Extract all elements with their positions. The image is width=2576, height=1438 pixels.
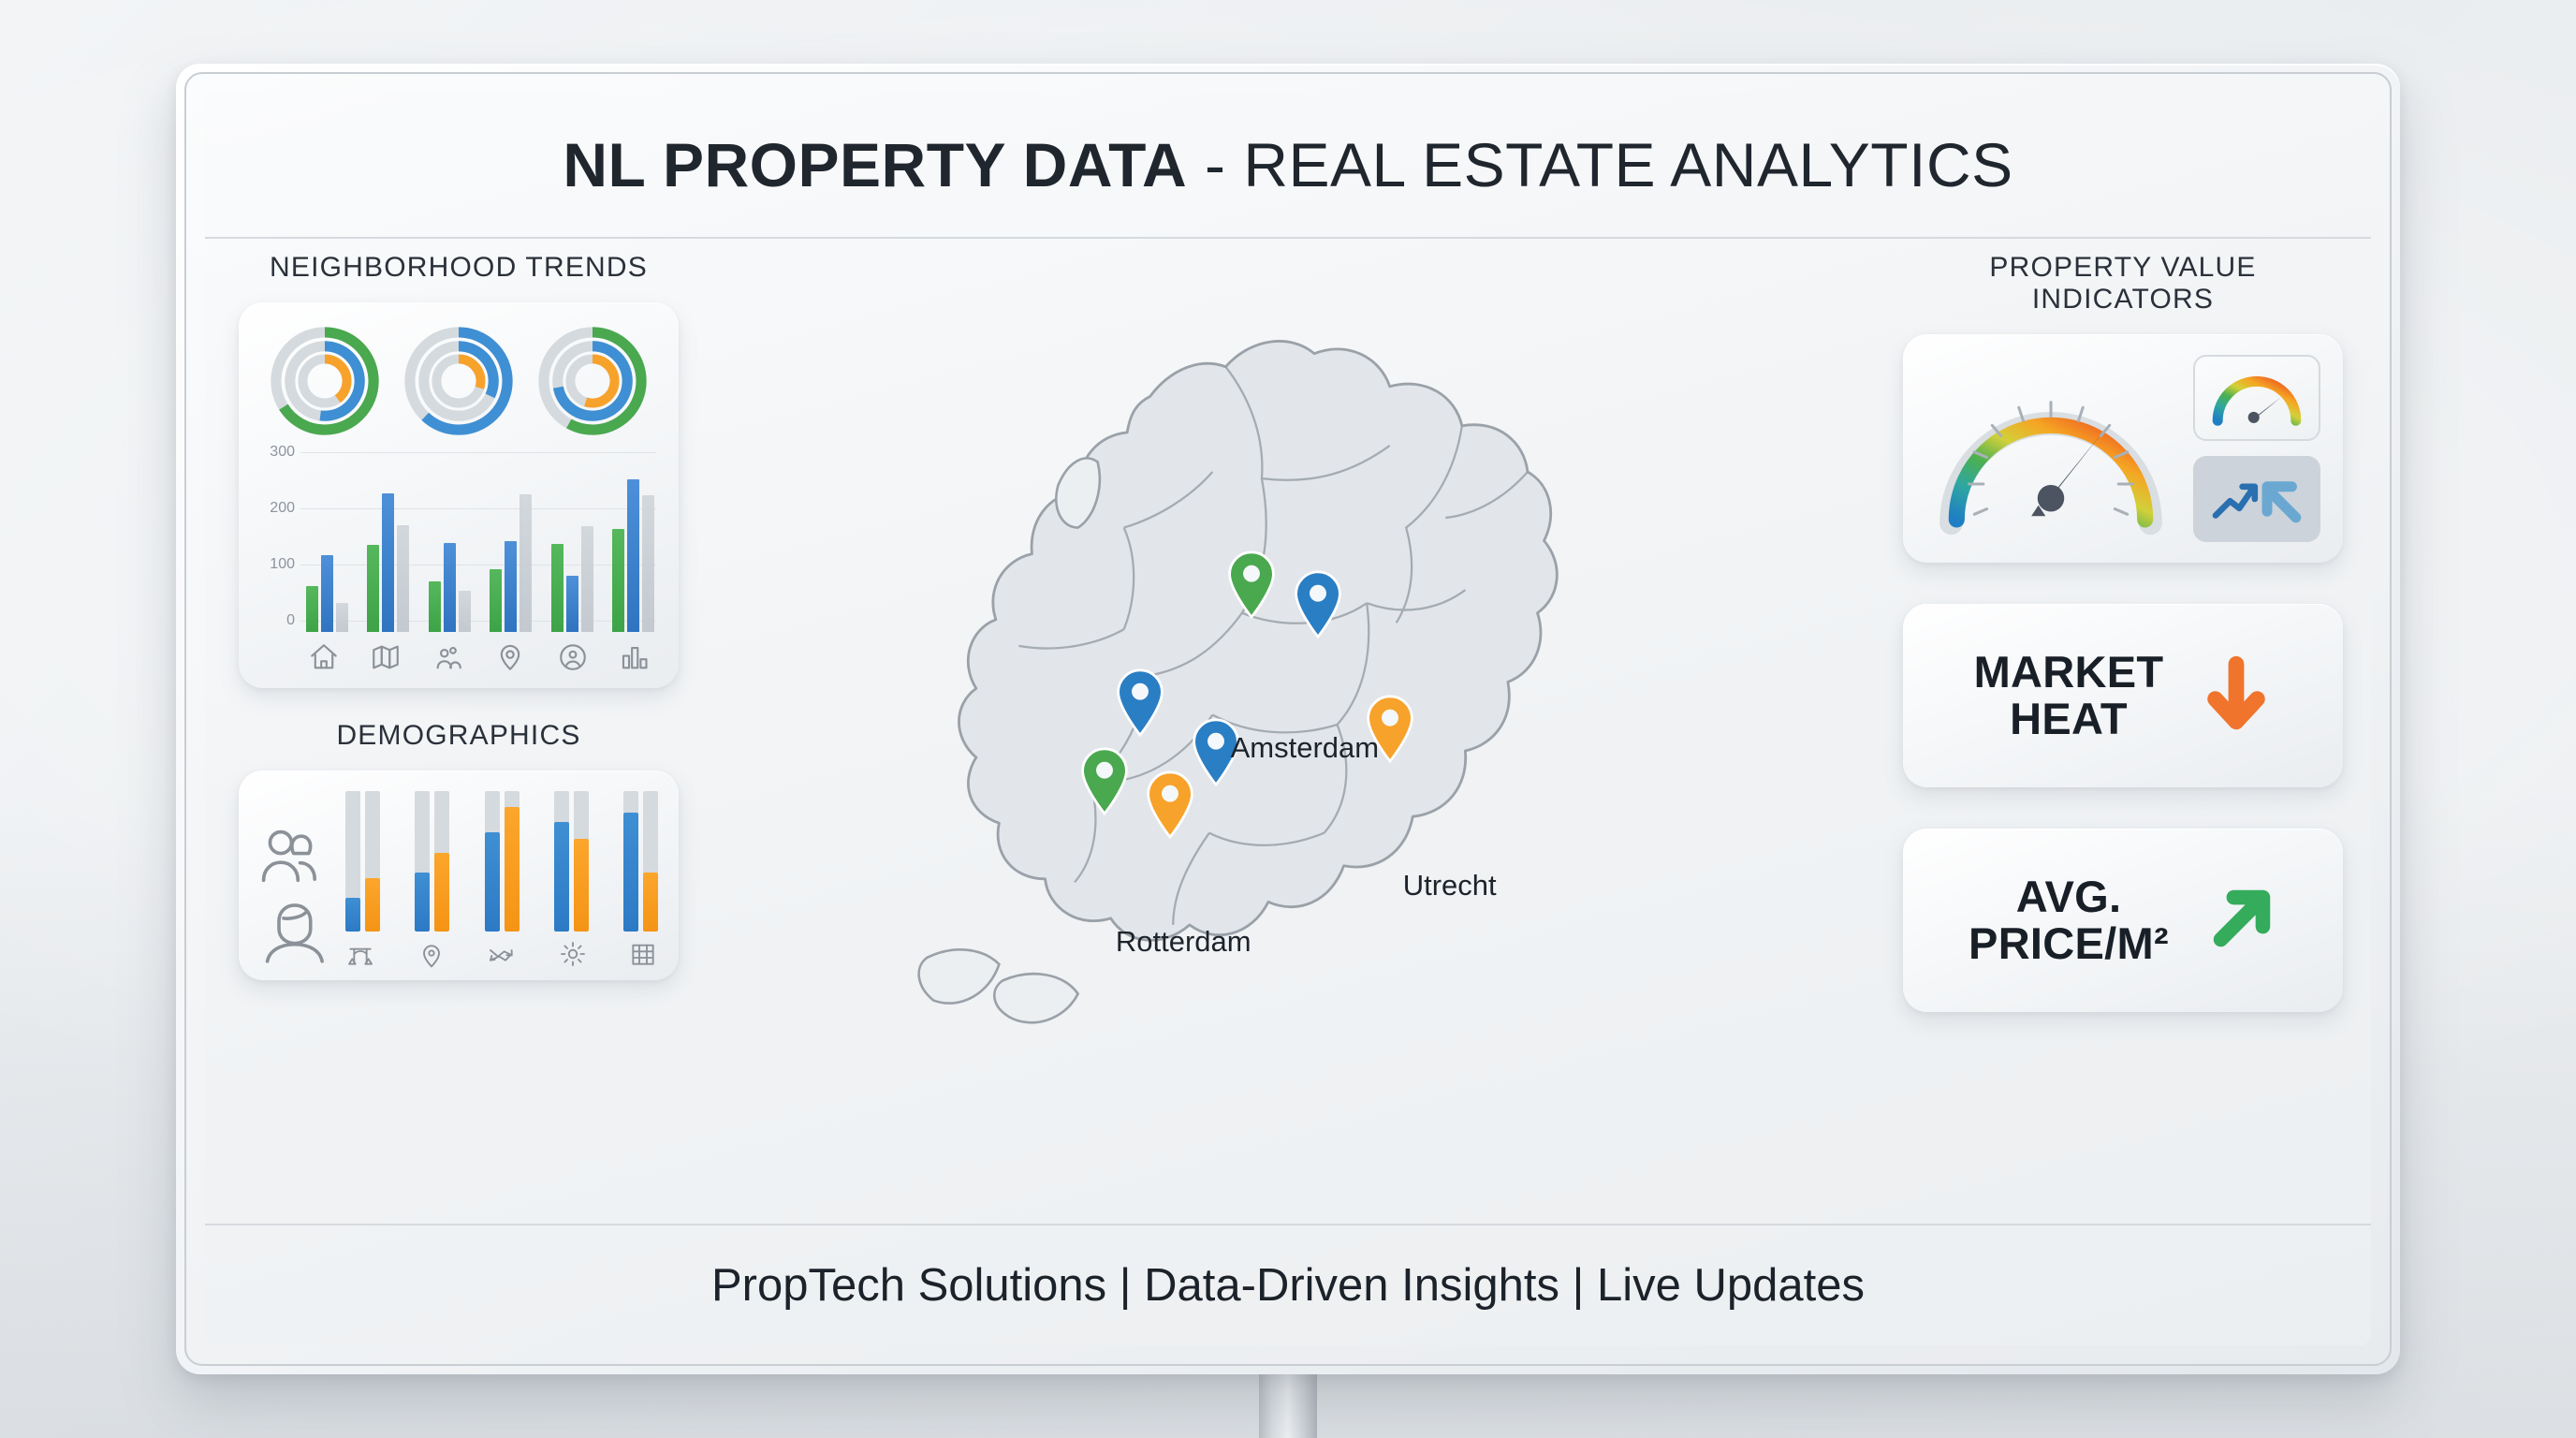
page-title-bold: NL PROPERTY DATA [563, 130, 1187, 199]
bar-blue [566, 576, 578, 632]
bar-gray [642, 495, 654, 632]
two-people-icon [259, 823, 332, 890]
bar-gray [459, 591, 471, 632]
avg-price-card[interactable]: AVG. PRICE/M² [1903, 829, 2343, 1012]
bar-chart-icon [619, 641, 651, 673]
neighborhood-trends-card[interactable]: 3002001000 [239, 302, 679, 688]
demographics-bar-fill-blue [485, 832, 500, 932]
left-column: NEIGHBORHOOD TRENDS [239, 252, 679, 980]
demographics-bar-track [554, 791, 569, 932]
demographics-bar-fill-blue [554, 822, 569, 932]
avg-price-line1: AVG. [1969, 873, 2169, 920]
market-heat-arrow [2201, 655, 2272, 737]
map-pin-rotterdam[interactable] [1114, 668, 1166, 737]
bar-blue [382, 493, 394, 632]
demographics-bar-pair [485, 791, 520, 932]
donut-chart-2[interactable] [401, 323, 517, 439]
property-value-indicators-title: PROPERTY VALUE INDICATORS [1903, 252, 2343, 315]
donut-chart-1[interactable] [267, 323, 383, 439]
map-pin-rotterdam[interactable] [1144, 770, 1196, 839]
bar-gray [336, 603, 348, 632]
demographics-bar-pair [554, 791, 589, 932]
bar-blue [444, 543, 456, 632]
demographics-bar-track [623, 791, 638, 932]
mini-gauge-tile[interactable] [2193, 355, 2320, 441]
avg-price-line2: PRICE/M² [1969, 920, 2169, 967]
neighborhood-bar-chart[interactable]: 3002001000 [257, 445, 660, 632]
market-heat-label: MARKET HEAT [1974, 649, 2164, 742]
monitor-frame: NL PROPERTY DATA - REAL ESTATE ANALYTICS… [176, 64, 2400, 1374]
demographics-bar-fill-orange [574, 839, 589, 932]
bar-green [551, 544, 563, 632]
value-gauge[interactable] [1925, 359, 2176, 537]
bar-gray [520, 494, 532, 632]
demographics-icon-row [345, 932, 658, 969]
demographics-bar-track [345, 791, 360, 932]
bar-group [490, 452, 532, 632]
demographics-bar-chart[interactable] [345, 791, 658, 969]
demographics-bar-pair [345, 791, 380, 932]
y-axis-tick-label: 300 [257, 444, 295, 461]
demographics-bar-fill-orange [365, 878, 380, 932]
bar-green [429, 581, 441, 632]
bar-chart-icon-row [257, 632, 660, 673]
map-icon [370, 641, 402, 673]
right-column: PROPERTY VALUE INDICATORS [1903, 252, 2343, 1012]
user-circle-icon [557, 641, 589, 673]
dashboard-footer: PropTech Solutions | Data-Driven Insight… [205, 1224, 2371, 1345]
gear-icon [558, 939, 588, 969]
donut-chart-row [257, 323, 660, 439]
bar-blue [321, 555, 333, 632]
demographics-bar-pair [415, 791, 449, 932]
bar-green [612, 529, 624, 632]
demographics-bar-track [415, 791, 430, 932]
map-city-label-utrecht: Utrecht [1403, 869, 1497, 902]
map-city-label-amsterdam: Amsterdam [1231, 731, 1379, 765]
bar-blue [505, 541, 517, 632]
avg-price-label: AVG. PRICE/M² [1969, 873, 2169, 967]
bar-group [429, 452, 471, 632]
location-pin-icon [417, 939, 446, 969]
demographics-bar-track [574, 791, 589, 932]
trend-cross-icon [487, 939, 517, 969]
bar-green [367, 545, 379, 632]
map-city-label-rotterdam: Rotterdam [1116, 925, 1251, 959]
bridge-icon [345, 939, 375, 969]
monitor-stand [1259, 1369, 1317, 1438]
avg-price-arrow [2206, 880, 2277, 961]
bar-group [306, 452, 348, 632]
people-group-icon [432, 641, 464, 673]
trend-up-arrows-icon [2205, 470, 2308, 528]
bar-gray [397, 525, 409, 632]
demographics-bar-track [643, 791, 658, 932]
person-avatar-icon [259, 896, 332, 963]
bar-group [367, 452, 409, 632]
demographics-bar-fill-blue [345, 898, 360, 932]
dashboard-header: NL PROPERTY DATA - REAL ESTATE ANALYTICS [205, 93, 2371, 239]
footer-text: PropTech Solutions | Data-Driven Insight… [711, 1259, 1865, 1312]
dashboard-screen: NL PROPERTY DATA - REAL ESTATE ANALYTICS… [205, 93, 2371, 1345]
trend-arrows-tile[interactable] [2193, 456, 2320, 542]
netherlands-map[interactable]: AmsterdamRotterdamUtrecht [692, 239, 1884, 1224]
donut-chart-3[interactable] [534, 323, 651, 439]
arrow-down-icon [2201, 655, 2272, 732]
map-pin-amsterdam[interactable] [1225, 550, 1278, 619]
gauge-icon [2205, 369, 2308, 427]
neighborhood-trends-title: NEIGHBORHOOD TRENDS [239, 252, 679, 284]
bar-blue [627, 479, 639, 632]
bar-green [490, 569, 502, 632]
page-title: NL PROPERTY DATA - REAL ESTATE ANALYTICS [563, 129, 2012, 200]
demographics-bar-fill-orange [505, 807, 520, 932]
demographics-bar-track [434, 791, 449, 932]
building-grid-icon [628, 939, 658, 969]
demographics-bar-fill-blue [623, 813, 638, 932]
bar-gray [581, 526, 593, 632]
page-title-light: - REAL ESTATE ANALYTICS [1187, 130, 2012, 199]
bar-group [551, 452, 593, 632]
demographics-bar-fill-orange [643, 873, 658, 932]
demographics-bar-pair [623, 791, 658, 932]
demographics-bar-track [365, 791, 380, 932]
market-heat-line1: MARKET [1974, 649, 2164, 696]
bar-green [306, 586, 318, 632]
map-pin-amsterdam[interactable] [1292, 569, 1344, 638]
demographics-bar-fill-orange [434, 853, 449, 932]
demographics-card[interactable] [239, 770, 679, 980]
demographics-people-icons [259, 823, 332, 969]
home-icon [308, 641, 340, 673]
demographics-bar-track [505, 791, 520, 932]
market-heat-line2: HEAT [1974, 696, 2164, 742]
location-pin-icon [494, 641, 526, 673]
mini-indicator-column [2193, 355, 2320, 542]
y-axis-tick-label: 200 [257, 500, 295, 517]
bar-group [612, 452, 654, 632]
monitor-bezel: NL PROPERTY DATA - REAL ESTATE ANALYTICS… [184, 72, 2392, 1366]
value-gauge-card[interactable] [1903, 334, 2343, 563]
arrow-up-right-icon [2206, 880, 2277, 957]
demographics-bar-fill-blue [415, 873, 430, 932]
demographics-bar-track [485, 791, 500, 932]
map-pin-rotterdam[interactable] [1078, 746, 1131, 815]
demographics-title: DEMOGRAPHICS [239, 720, 679, 752]
y-axis-tick-label: 100 [257, 556, 295, 573]
market-heat-card[interactable]: MARKET HEAT [1903, 604, 2343, 787]
y-axis-tick-label: 0 [257, 612, 295, 629]
